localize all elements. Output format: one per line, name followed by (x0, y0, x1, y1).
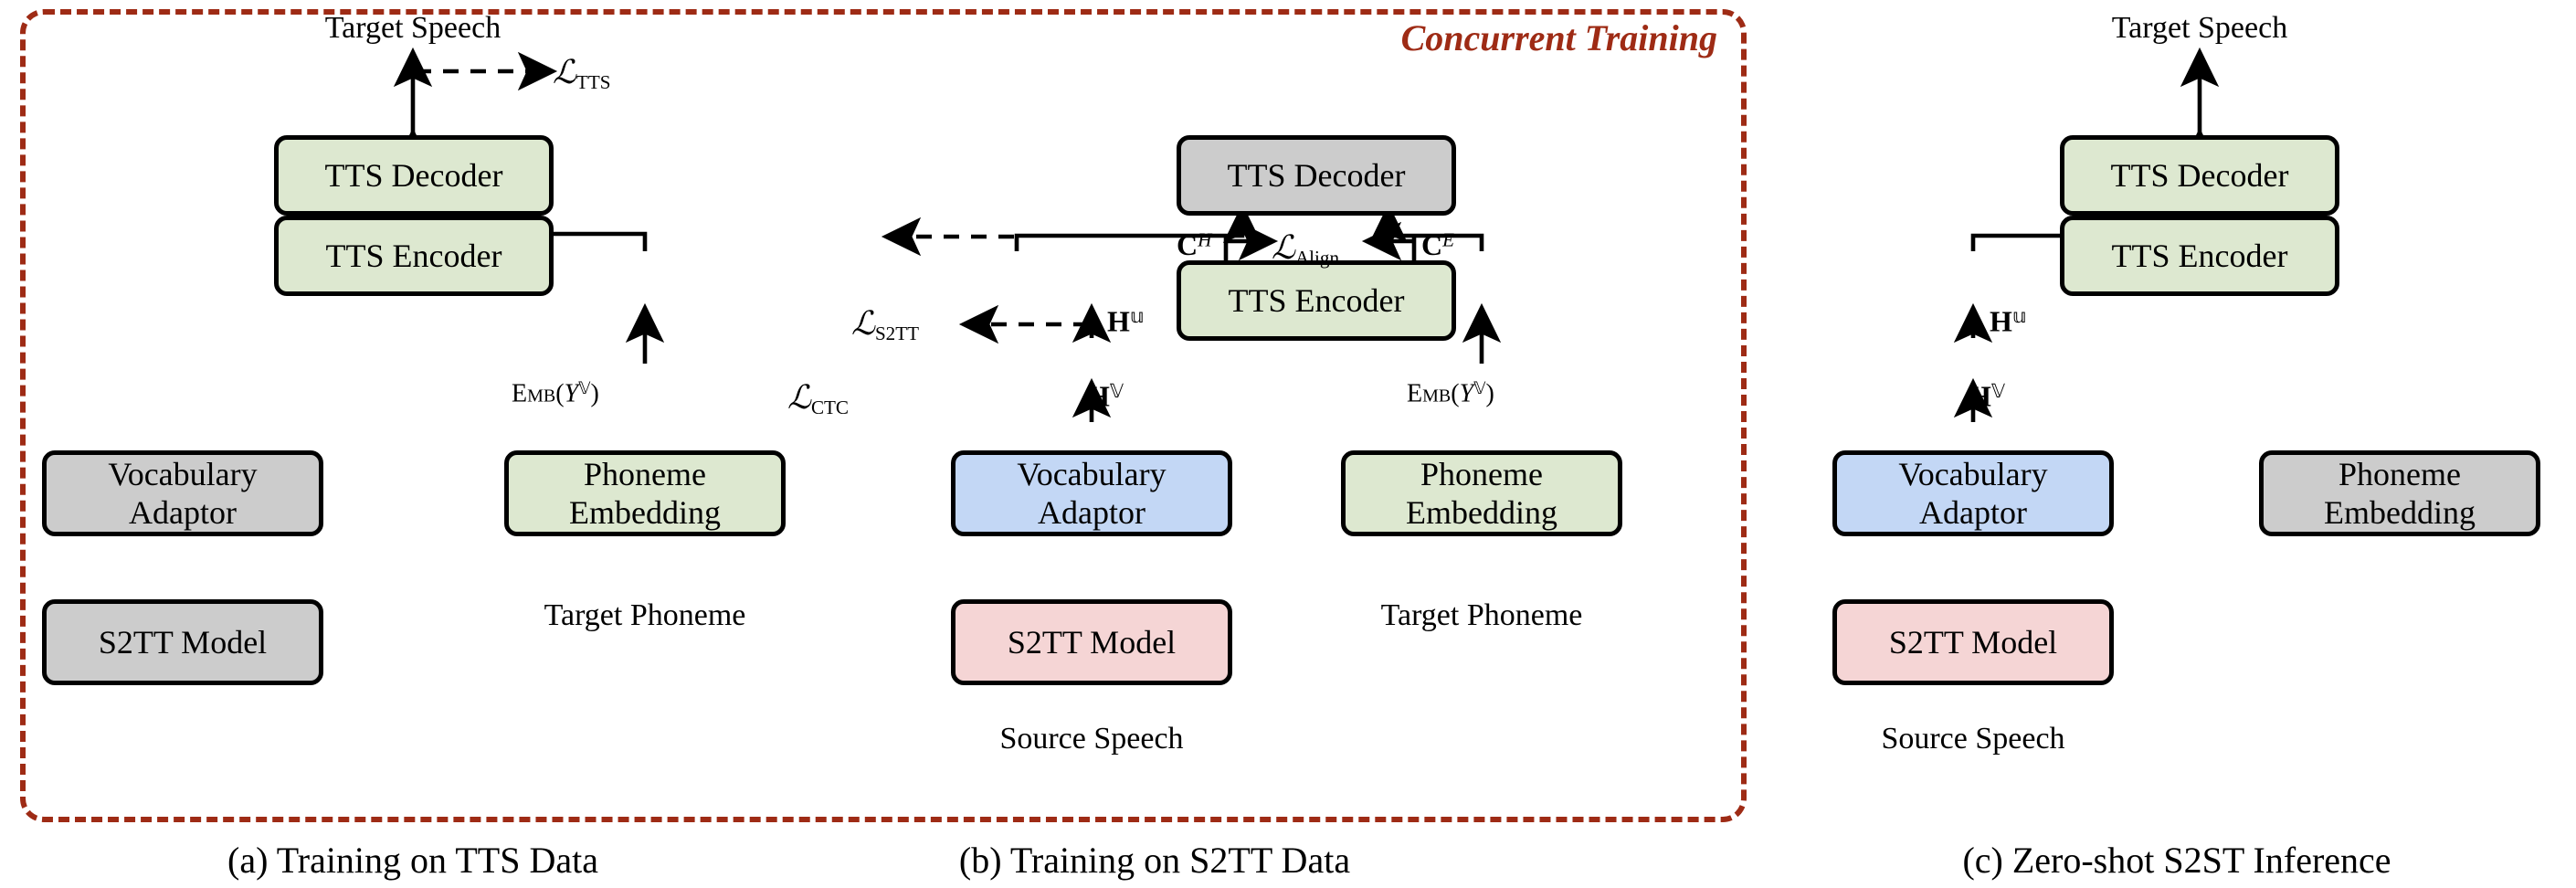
c-vocabulary-adaptor-line2: Adaptor (1919, 493, 2027, 532)
b-ce-label: CE (1421, 228, 1454, 262)
a-s2tt-model-box: S2TT Model (42, 599, 323, 685)
c-tts-decoder-box: TTS Decoder (2060, 135, 2339, 216)
c-target-speech-label: Target Speech (2112, 11, 2287, 46)
a-vocabulary-adaptor-box: Vocabulary Adaptor (42, 450, 323, 536)
b-loss-ctc-label: ℒCTC (787, 378, 849, 419)
b-phoneme-embedding-line2: Embedding (1406, 493, 1557, 532)
c-hw-label: H𝕦 (1990, 304, 2027, 339)
b-loss-align-label: ℒAlign (1272, 228, 1339, 270)
c-vocabulary-adaptor-box: Vocabulary Adaptor (1832, 450, 2114, 536)
b-target-phoneme-label: Target Phoneme (1381, 598, 1583, 633)
c-phoneme-embedding-box: Phoneme Embedding (2259, 450, 2540, 536)
b-vocabulary-adaptor-line1: Vocabulary (1017, 455, 1166, 493)
b-loss-s2tt-label: ℒS2TT (851, 304, 919, 345)
a-emb-label: Emb(Y𝕍) (512, 379, 599, 408)
c-vocabulary-adaptor-line1: Vocabulary (1898, 455, 2047, 493)
figure-canvas: Concurrent Training (0, 0, 2576, 888)
b-vocabulary-adaptor-line2: Adaptor (1038, 493, 1145, 532)
c-hv-label: H𝕍 (1969, 379, 2005, 414)
a-target-speech-label: Target Speech (325, 11, 501, 46)
b-vocabulary-adaptor-box: Vocabulary Adaptor (951, 450, 1232, 536)
a-vocabulary-adaptor-line1: Vocabulary (108, 455, 257, 493)
c-tts-encoder-box: TTS Encoder (2060, 216, 2339, 296)
a-tts-encoder-box: TTS Encoder (274, 216, 554, 296)
c-source-speech-label: Source Speech (1881, 722, 2064, 756)
a-phoneme-embedding-line2: Embedding (569, 493, 721, 532)
b-phoneme-embedding-box: Phoneme Embedding (1341, 450, 1622, 536)
b-hv-label: H𝕍 (1087, 379, 1124, 414)
a-phoneme-embedding-line1: Phoneme (584, 455, 706, 493)
caption-a: (a) Training on TTS Data (227, 839, 598, 882)
b-tts-encoder-box: TTS Encoder (1177, 260, 1456, 341)
b-hw-label: H𝕦 (1107, 304, 1145, 339)
b-tts-decoder-box: TTS Decoder (1177, 135, 1456, 216)
caption-b: (b) Training on S2TT Data (959, 839, 1350, 882)
b-source-speech-label: Source Speech (999, 722, 1183, 756)
a-vocabulary-adaptor-line2: Adaptor (129, 493, 237, 532)
a-tts-decoder-box: TTS Decoder (274, 135, 554, 216)
b-phoneme-embedding-line1: Phoneme (1420, 455, 1543, 493)
caption-c: (c) Zero-shot S2ST Inference (1962, 839, 2391, 882)
b-s2tt-model-box: S2TT Model (951, 599, 1232, 685)
c-phoneme-embedding-line2: Embedding (2324, 493, 2476, 532)
b-emb-label: Emb(Y𝕍) (1407, 379, 1494, 408)
c-s2tt-model-box: S2TT Model (1832, 599, 2114, 685)
c-phoneme-embedding-line1: Phoneme (2338, 455, 2461, 493)
a-loss-tts-label: ℒTTS (553, 53, 610, 94)
a-target-phoneme-label: Target Phoneme (544, 598, 746, 633)
b-ch-label: CH (1177, 228, 1211, 262)
a-phoneme-embedding-box: Phoneme Embedding (504, 450, 786, 536)
connector-layer (0, 0, 2576, 888)
